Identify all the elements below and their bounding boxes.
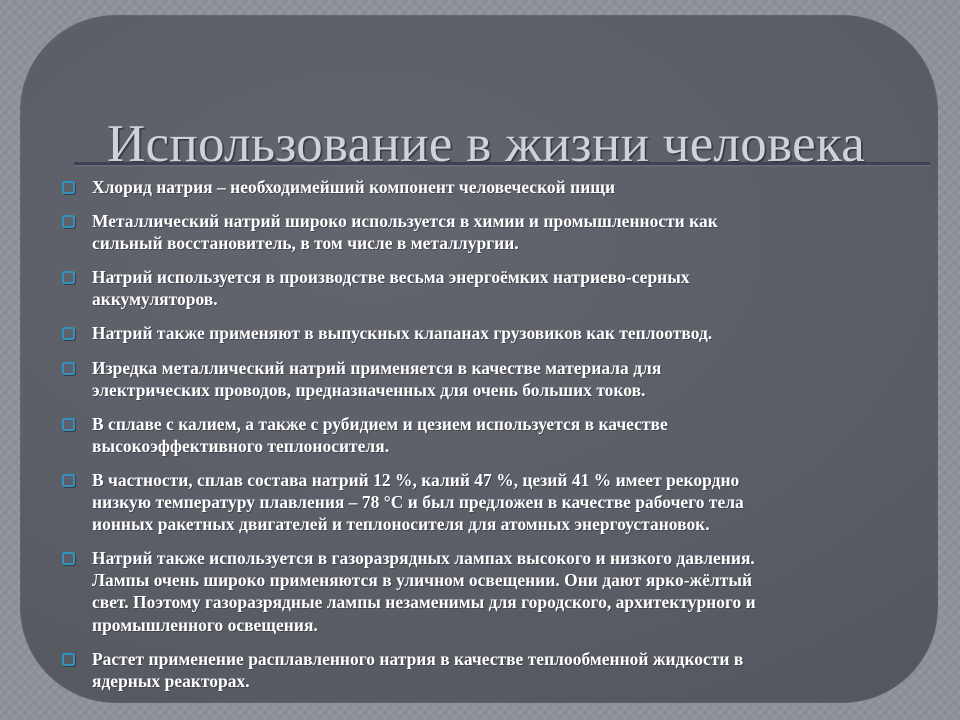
list-item: Металлический натрий широко используется…	[60, 210, 938, 254]
slide-content-panel: Использование в жизни человека Хлорид на…	[20, 15, 938, 703]
list-item: Натрий используется в производстве весьм…	[60, 266, 938, 310]
list-item: Натрий также применяют в выпускных клапа…	[60, 322, 938, 344]
hollow-square-bullet-icon	[62, 271, 75, 284]
list-item: В сплаве с калием, а также с рубидием и …	[60, 413, 938, 457]
list-item-text: Натрий также применяют в выпускных клапа…	[92, 322, 938, 344]
list-item: Хлорид натрия – необходимейший компонент…	[60, 176, 938, 198]
hollow-square-bullet-icon	[62, 215, 75, 228]
title-divider	[74, 162, 930, 165]
list-item: Натрий также используется в газоразрядны…	[60, 547, 938, 635]
list-item: Изредка металлический натрий применяется…	[60, 357, 938, 401]
hollow-square-bullet-icon	[62, 362, 75, 375]
list-item-text: Изредка металлический натрий применяется…	[92, 357, 938, 401]
hollow-square-bullet-icon	[62, 552, 75, 565]
list-item-text: Натрий используется в производстве весьм…	[92, 266, 938, 310]
hollow-square-bullet-icon	[62, 418, 75, 431]
list-item-text: В сплаве с калием, а также с рубидием и …	[92, 413, 938, 457]
hollow-square-bullet-icon	[62, 474, 75, 487]
slide-canvas: Использование в жизни человека Хлорид на…	[0, 0, 960, 720]
bullet-list: Хлорид натрия – необходимейший компонент…	[60, 176, 938, 703]
list-item: Растет применение расплавленного натрия …	[60, 648, 938, 692]
hollow-square-bullet-icon	[62, 181, 75, 194]
list-item-text: Хлорид натрия – необходимейший компонент…	[92, 176, 938, 198]
hollow-square-bullet-icon	[62, 653, 75, 666]
list-item: В частности, сплав состава натрий 12 %, …	[60, 469, 938, 535]
list-item-text: Натрий также используется в газоразрядны…	[92, 547, 938, 635]
list-item-text: Металлический натрий широко используется…	[92, 210, 938, 254]
hollow-square-bullet-icon	[62, 327, 75, 340]
list-item-text: Растет применение расплавленного натрия …	[92, 648, 938, 692]
list-item-text: В частности, сплав состава натрий 12 %, …	[92, 469, 938, 535]
